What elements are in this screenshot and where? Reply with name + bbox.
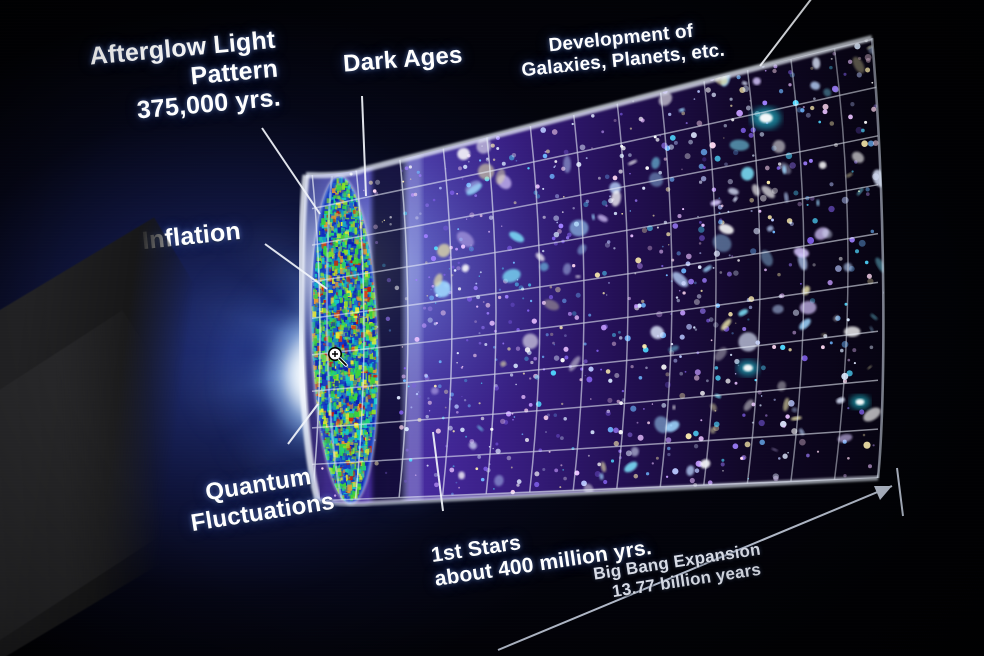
universe-timeline-photo: Afterglow Light Pattern 375,000 yrs. Dar… [0, 0, 984, 656]
label-afterglow-light-pattern: Afterglow Light Pattern 375,000 yrs. [88, 26, 281, 130]
magnifier-zoom-cursor-icon[interactable] [326, 345, 348, 367]
